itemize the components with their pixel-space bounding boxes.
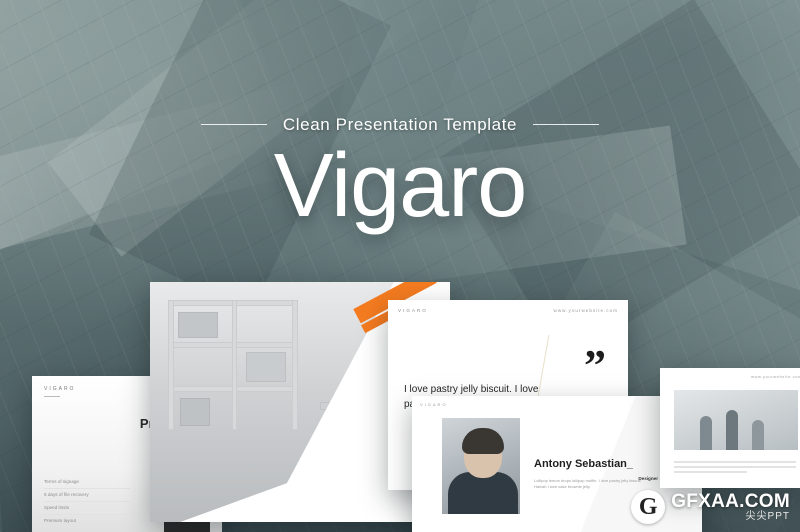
shelf-box <box>180 398 210 426</box>
slide-secondary[interactable]: www.yourwebsite.com <box>660 368 800 488</box>
shelf-upright <box>232 300 237 430</box>
rule-right-icon <box>533 124 599 125</box>
hero-title: Vigaro <box>0 141 800 231</box>
text-placeholder-lines <box>674 461 796 476</box>
hero-text-block: Clean Presentation Template Vigaro <box>0 112 800 231</box>
slide-brand-label: VIGARO <box>44 386 75 392</box>
person-figure <box>726 410 738 450</box>
feature-item: Terms of signage <box>44 478 130 489</box>
person-bio: Lollipop lemon drops lollipop muffin. I … <box>534 478 654 490</box>
person-name: Antony Sebastian_ <box>534 458 633 470</box>
slide-url: www.yourwebsite.com <box>751 374 800 379</box>
person-figure <box>700 416 712 450</box>
portrait-hair <box>462 428 504 454</box>
hero-subtitle-row: Clean Presentation Template <box>201 115 599 135</box>
feature-item: Speed limits <box>44 504 130 515</box>
slide-image-placeholder <box>674 390 798 450</box>
portrait-body <box>448 472 518 514</box>
feature-item: Premium layout <box>44 517 130 528</box>
shelf-upright <box>292 300 298 430</box>
rule-left-icon <box>201 124 267 125</box>
text-line <box>674 466 796 468</box>
watermark: G GFXAA.COM 尖尖PPT <box>631 490 790 524</box>
slide-brand-label: VIGARO <box>420 402 448 407</box>
watermark-site: GFXAA.COM <box>671 492 790 512</box>
quote-mark-icon: ” <box>584 352 606 380</box>
slide-url: www.yourwebsite.com <box>554 308 618 313</box>
pricing-feature-list: Terms of signage 5 days of file recovery… <box>44 478 130 530</box>
shelf-box <box>178 312 218 338</box>
feature-item: 5 days of file recovery <box>44 491 130 502</box>
text-line <box>674 471 747 473</box>
brand-underline <box>44 396 60 397</box>
watermark-tagline: 尖尖PPT <box>671 512 790 523</box>
person-portrait <box>442 418 520 514</box>
slide-brand-label: VIGARO <box>398 308 428 313</box>
person-role: Designer <box>638 476 658 481</box>
shelf-box <box>246 352 286 382</box>
hero-subtitle: Clean Presentation Template <box>283 115 517 135</box>
shelf-upright <box>168 300 174 430</box>
text-line <box>674 461 796 463</box>
gfxaa-logo-icon: G <box>631 490 665 524</box>
poster-canvas: Clean Presentation Template Vigaro VIGAR… <box>0 0 800 532</box>
watermark-text: GFXAA.COM 尖尖PPT <box>671 492 790 522</box>
person-figure <box>752 420 764 450</box>
